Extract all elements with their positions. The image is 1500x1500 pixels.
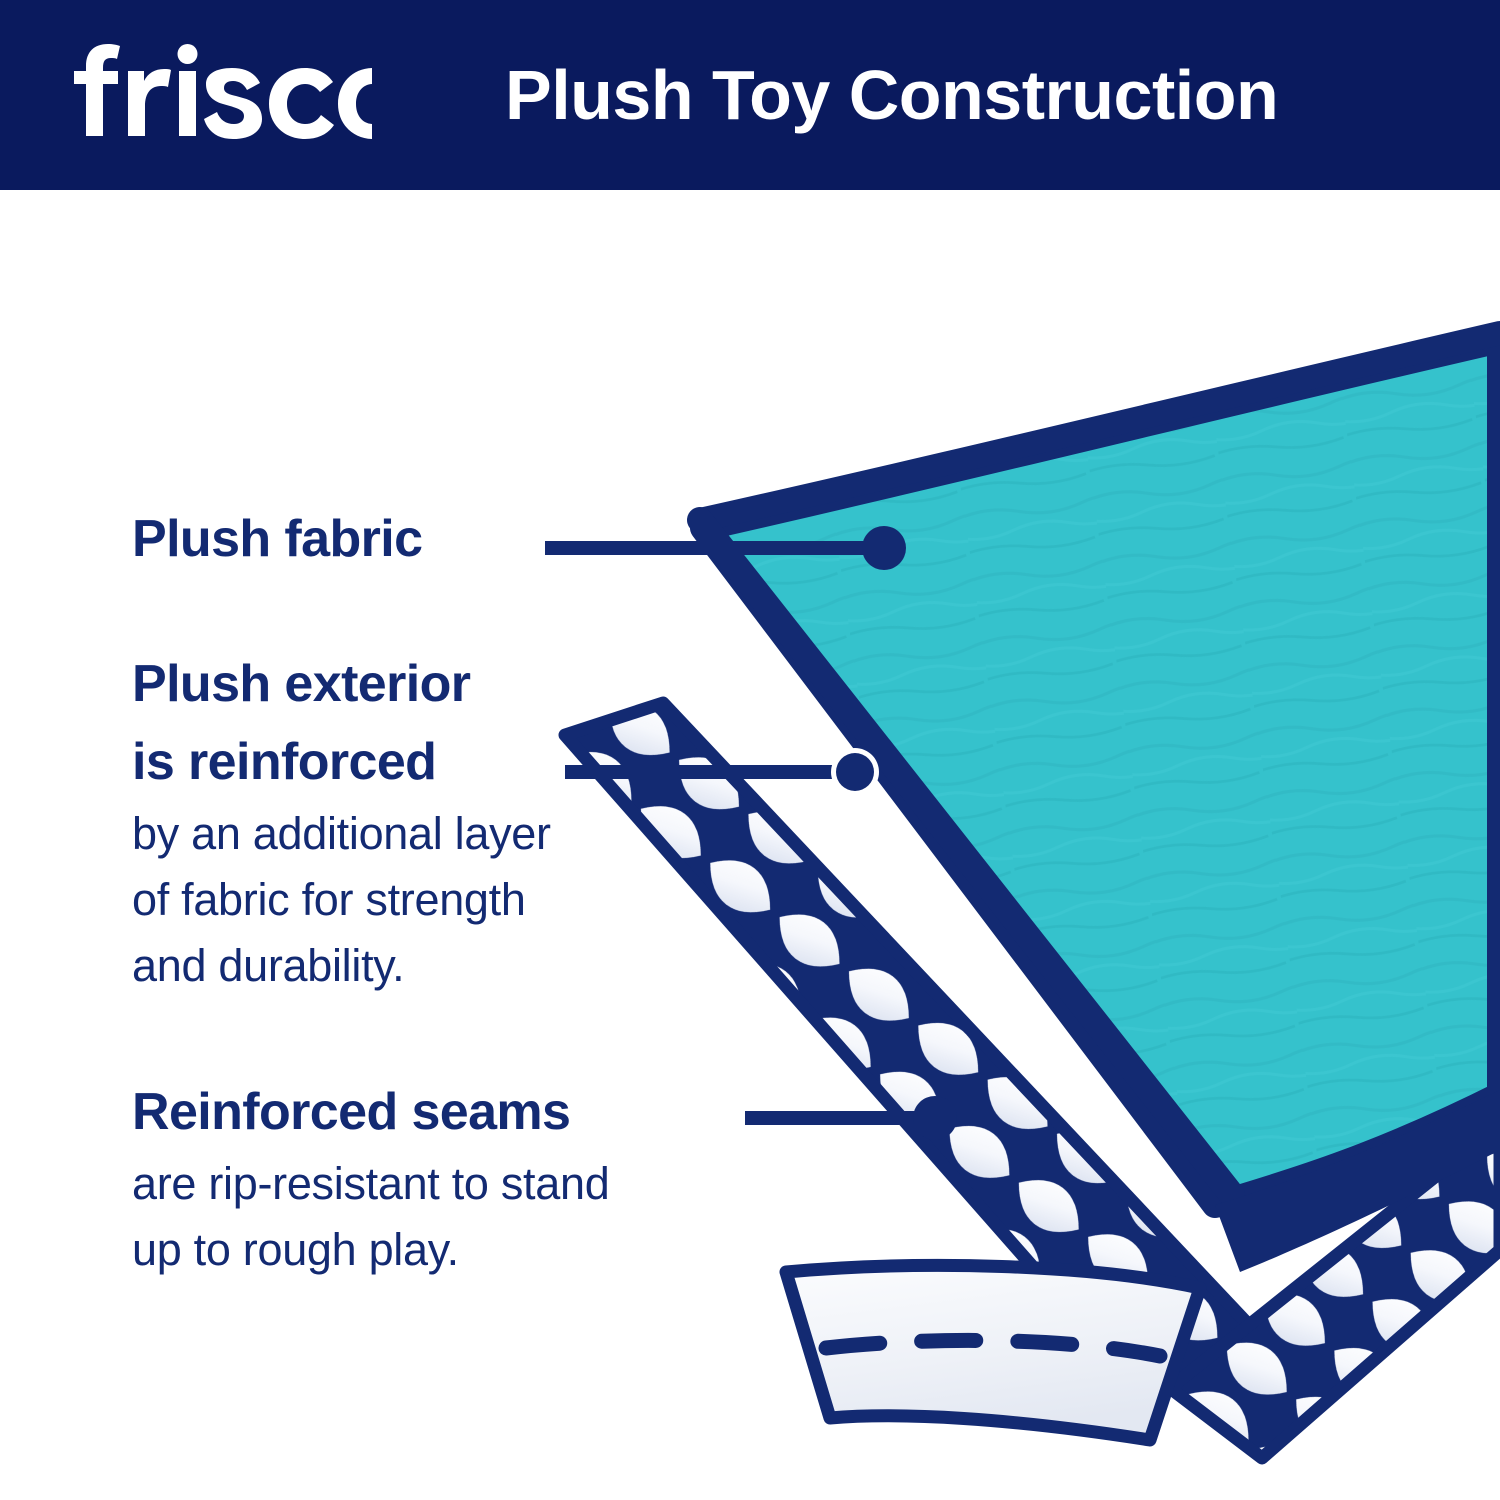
callout-heading-line-1: Plush exterior	[132, 645, 551, 723]
callout-plush-exterior: Plush exterior is reinforced by an addit…	[132, 645, 551, 999]
callout-body-line-1: are rip-resistant to stand	[132, 1151, 609, 1217]
callout-labels: Plush fabric Plush exterior is reinforce…	[0, 0, 1500, 1500]
callout-body-line-2: of fabric for strength	[132, 867, 551, 933]
callout-heading-line-2: is reinforced	[132, 723, 551, 801]
infographic-page: R Plush Toy Construction	[0, 0, 1500, 1500]
callout-heading: Plush fabric	[132, 500, 422, 578]
callout-reinforced-seams: Reinforced seams are rip-resistant to st…	[132, 1073, 609, 1283]
callout-body-line-3: and durability.	[132, 933, 551, 999]
callout-body-line-1: by an additional layer	[132, 801, 551, 867]
callout-heading-line-1: Reinforced seams	[132, 1073, 609, 1151]
callout-body-line-2: up to rough play.	[132, 1217, 609, 1283]
callout-plush-fabric: Plush fabric	[132, 500, 422, 578]
